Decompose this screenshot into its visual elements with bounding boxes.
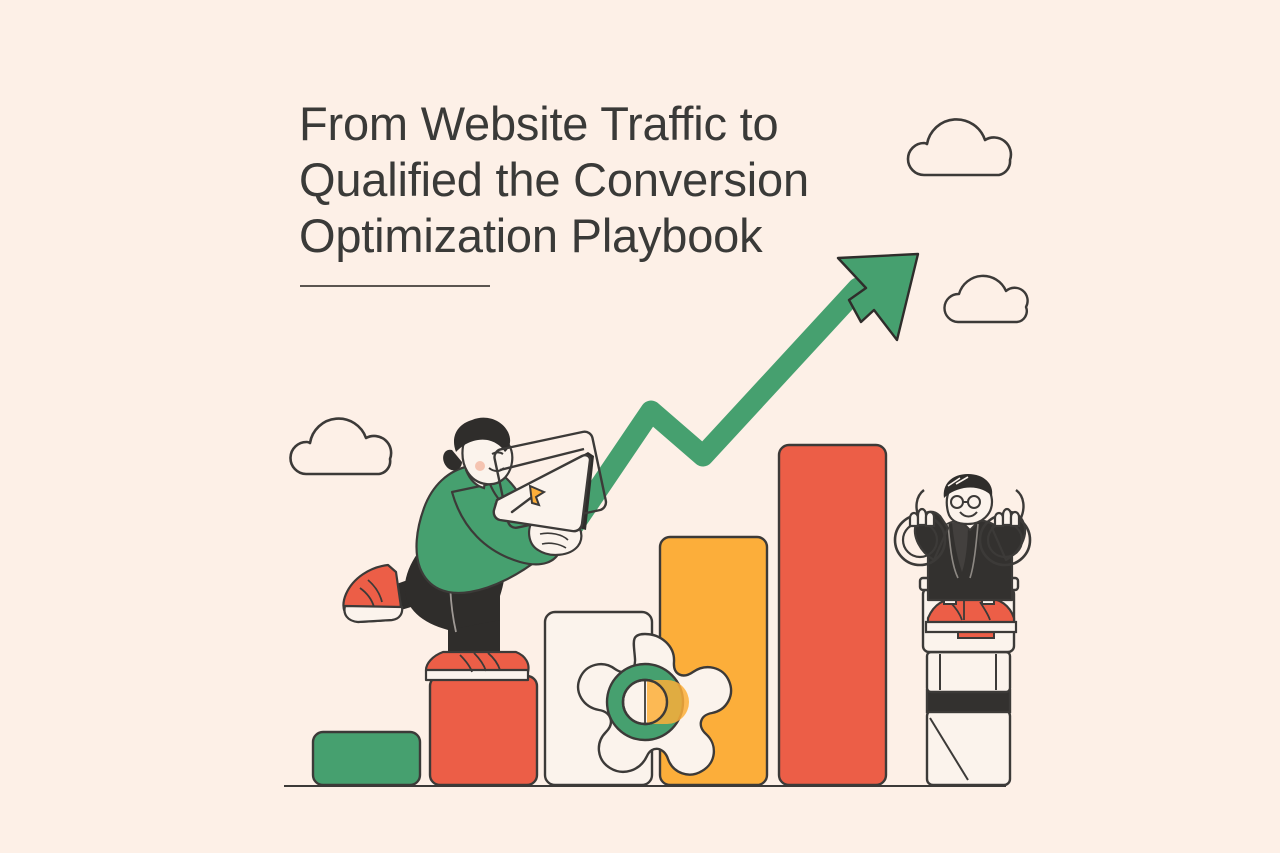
shoe-raised <box>343 565 402 622</box>
bar-5-tall-red <box>779 445 886 785</box>
bar-2-red <box>430 676 537 785</box>
shoes-right-person <box>926 598 1016 632</box>
shoe-standing <box>426 652 529 680</box>
box-bottom <box>927 710 1010 785</box>
poster-canvas: From Website Traffic to Qualified the Co… <box>0 0 1280 853</box>
cloud-left-icon <box>290 419 391 474</box>
person-celebrating-on-boxes <box>895 474 1030 785</box>
cloud-mid-right-icon <box>944 276 1027 322</box>
growth-illustration <box>0 0 1280 853</box>
bar-1-green <box>313 732 420 785</box>
box-band-dark <box>927 690 1010 712</box>
cloud-top-right-icon <box>908 119 1011 175</box>
